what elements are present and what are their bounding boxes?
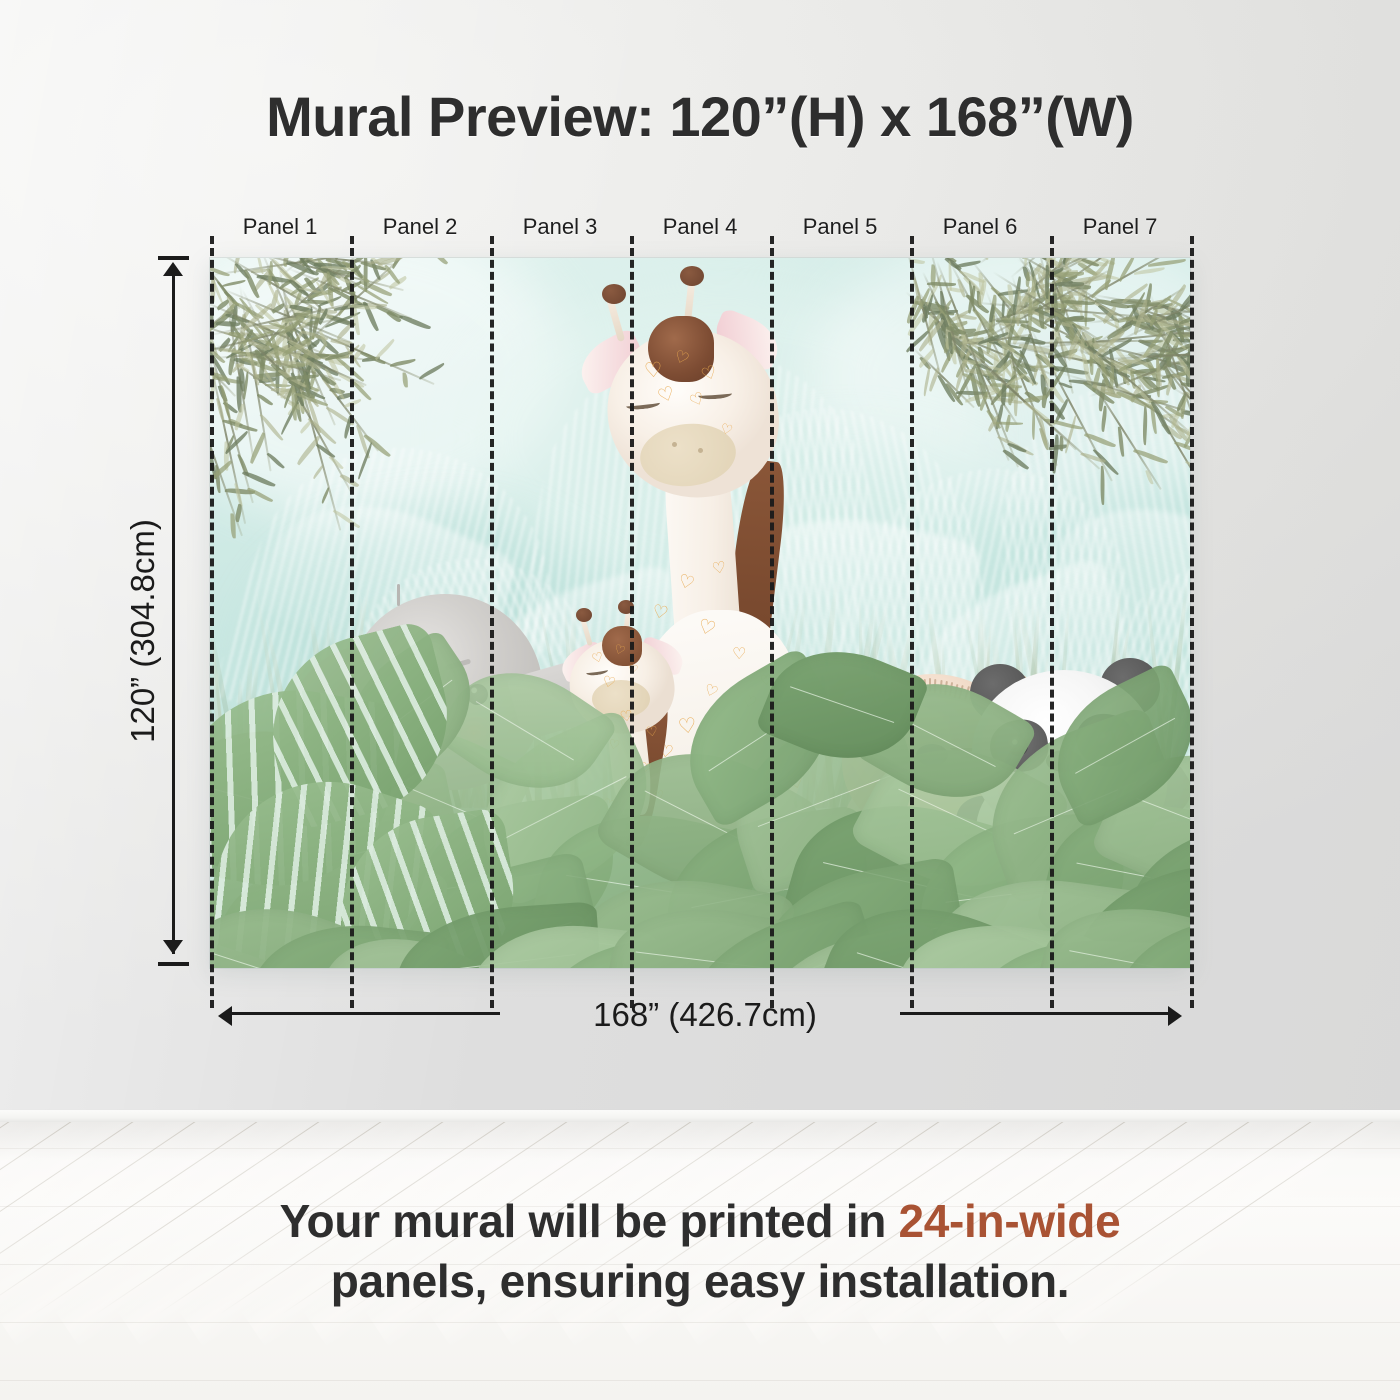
width-line-right	[900, 1012, 1168, 1015]
dimension-annotations: 120” (304.8cm) 168” (426.7cm)	[0, 0, 1400, 1122]
height-arrow-down	[163, 940, 183, 954]
width-arrow-right	[1168, 1006, 1182, 1026]
height-dimension-label: 120” (304.8cm)	[124, 466, 162, 796]
caption-line-1: Your mural will be printed in 24-in-wide	[0, 1192, 1400, 1252]
caption-text-before: Your mural will be printed in	[280, 1195, 899, 1247]
height-tick-top	[158, 256, 189, 260]
caption-accent: 24-in-wide	[898, 1195, 1120, 1247]
caption-line-2: panels, ensuring easy installation.	[0, 1252, 1400, 1312]
width-line-left	[232, 1012, 500, 1015]
caption: Your mural will be printed in 24-in-wide…	[0, 1192, 1400, 1312]
height-tick-bottom	[158, 962, 189, 966]
room-scene: Mural Preview: 120”(H) x 168”(W)	[0, 0, 1400, 1400]
height-line	[172, 274, 175, 954]
width-dimension-label: 168” (426.7cm)	[505, 996, 905, 1034]
width-arrow-left	[218, 1006, 232, 1026]
